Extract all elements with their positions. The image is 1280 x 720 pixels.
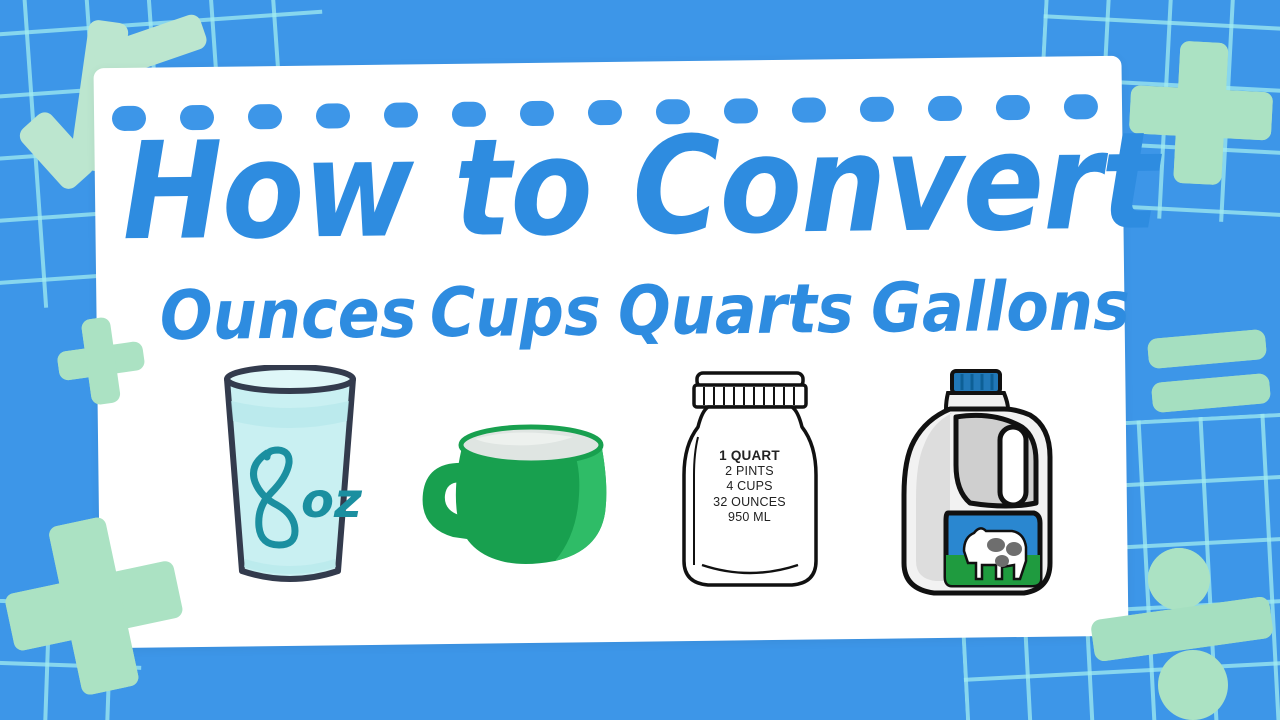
jar-label-line-1: 1 QUART [672, 448, 827, 464]
dot-icon-lower [1158, 650, 1228, 720]
mason-jar-label: 1 QUART 2 PINTS 4 CUPS 32 OUNCES 950 ML [672, 448, 827, 526]
drinking-glass-illustration: oz [205, 365, 375, 605]
plus-sign-icon-left-overlay [52, 312, 149, 409]
equals-sign-icon-overlay [1148, 330, 1268, 416]
plus-sign-icon-bottom-left-overlay [0, 504, 196, 708]
jar-label-line-2: 2 PINTS [672, 464, 827, 480]
coffee-mug-illustration [405, 365, 635, 605]
subheading-ounces: Ounces [160, 279, 417, 350]
subheading-quarts: Quarts [618, 275, 855, 346]
jar-label-line-4: 32 OUNCES [672, 495, 827, 511]
poster-canvas: How to Convert Ounces Cups Quarts Gallon… [0, 0, 1280, 720]
jar-label-line-3: 4 CUPS [672, 479, 827, 495]
dot-icon-upper-overlay [1148, 548, 1210, 610]
jar-label-line-5: 950 ML [672, 510, 827, 526]
subheading-cups: Cups [429, 277, 601, 347]
subheading-row: Ounces Cups Quarts Gallons [150, 275, 1131, 365]
svg-text:oz: oz [301, 473, 363, 529]
page-title: How to Convert [0, 114, 1280, 262]
subheading-gallons: Gallons [871, 272, 1131, 343]
milk-gallon-jug-illustration [890, 365, 1075, 605]
